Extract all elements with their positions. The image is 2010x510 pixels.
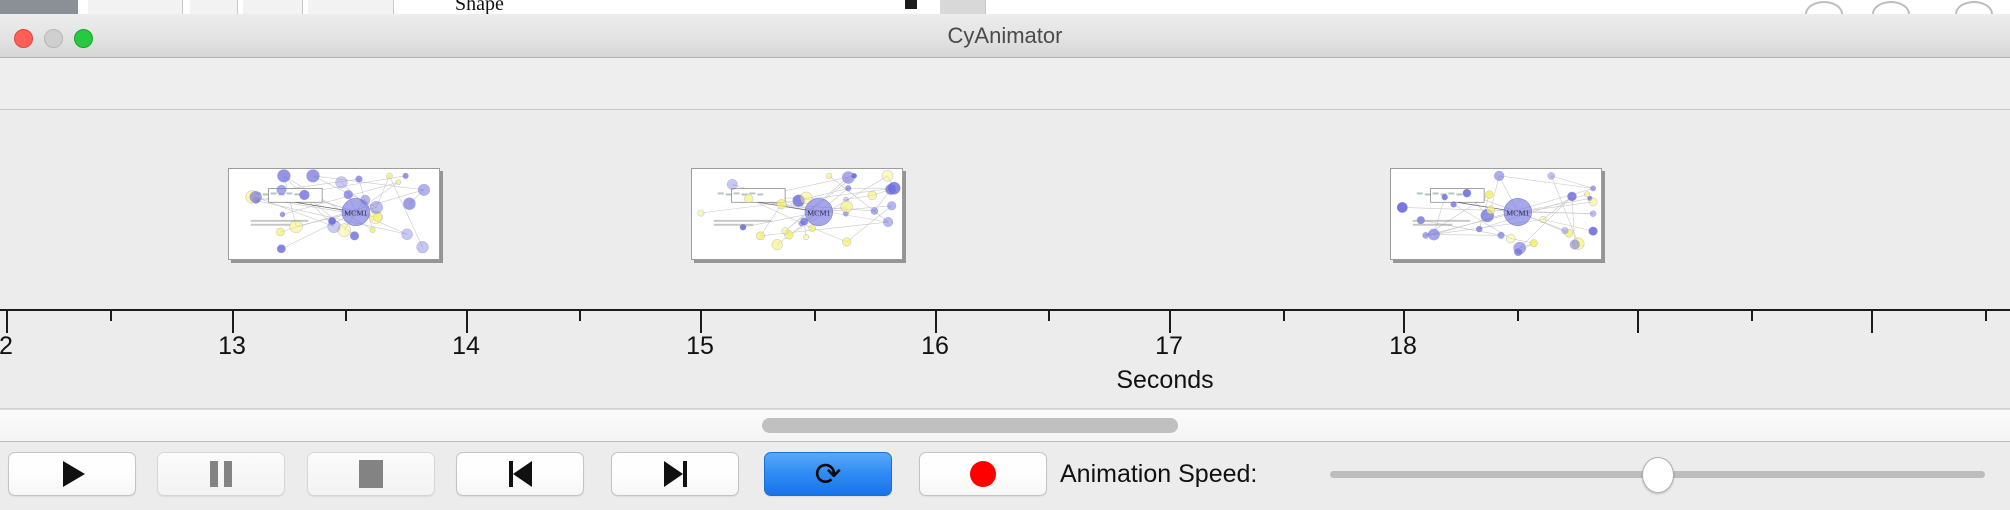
timeline-tick-major xyxy=(700,311,702,333)
stop-icon xyxy=(359,460,383,488)
loop-button[interactable]: ⟳ xyxy=(764,452,892,496)
timeline-tick-minor xyxy=(345,311,347,321)
timeline-tick-label: 13 xyxy=(218,332,246,361)
timeline-scrollbar[interactable] xyxy=(0,409,2010,442)
background-app-segment xyxy=(940,0,986,14)
pause-button[interactable] xyxy=(157,452,285,496)
skip-end-icon xyxy=(664,461,687,487)
close-button[interactable] xyxy=(14,29,33,48)
background-app-label: Shape xyxy=(455,0,504,14)
timeline-tick-label: 17 xyxy=(1155,332,1183,361)
background-app-marker xyxy=(905,0,917,9)
playback-toolbar: ⟳ Animation Speed: xyxy=(0,442,2010,510)
timeline-tick-label: 18 xyxy=(1389,332,1417,361)
stop-button[interactable] xyxy=(307,452,435,496)
background-app-arc xyxy=(1955,1,1993,14)
background-app-dark-block xyxy=(0,0,78,14)
timeline-tick-minor xyxy=(1985,311,1987,321)
timeline-tick-label: 15 xyxy=(686,332,714,361)
cyanimator-window: Shape CyAnimator + Clear All Frames xyxy=(0,0,2010,510)
timeline-tick-minor xyxy=(814,311,816,321)
play-button[interactable] xyxy=(8,452,136,496)
background-app-segment xyxy=(308,0,394,14)
timeline-tick-major xyxy=(232,311,234,333)
animation-speed-thumb[interactable] xyxy=(1642,457,1674,493)
record-icon xyxy=(970,461,996,487)
frames-toolbar: + Clear All Frames xyxy=(0,58,2010,110)
svg-text:MCM1: MCM1 xyxy=(1506,209,1529,218)
timeline-scrollbar-thumb[interactable] xyxy=(762,418,1178,433)
timeline-axis-title: Seconds xyxy=(860,366,1470,395)
timeline-tick-minor xyxy=(1283,311,1285,321)
timeline-tick-label: 14 xyxy=(452,332,480,361)
svg-text:MCM1: MCM1 xyxy=(344,209,367,218)
background-app-arc xyxy=(1805,1,1843,14)
background-app-segment xyxy=(243,0,303,14)
zoom-button[interactable] xyxy=(74,29,93,48)
skip-to-end-button[interactable] xyxy=(611,452,739,496)
record-button[interactable] xyxy=(919,452,1047,496)
timeline-frame-thumbnail[interactable]: MCM1 xyxy=(691,168,903,260)
play-icon xyxy=(63,461,85,487)
svg-text:MCM1: MCM1 xyxy=(807,209,830,218)
timeline-frame-thumbnail[interactable]: MCM1 xyxy=(1390,168,1602,260)
background-app-segment xyxy=(88,0,183,14)
timeline-tick-label: 2 xyxy=(0,332,13,361)
animation-speed-slider[interactable] xyxy=(1330,452,1985,496)
pause-icon xyxy=(210,461,232,487)
timeline-tick-major xyxy=(1403,311,1405,333)
timeline-axis-line xyxy=(0,309,2010,311)
timeline-tick-major xyxy=(1637,311,1639,333)
animation-speed-label: Animation Speed: xyxy=(1060,452,1257,496)
timeline-tick-major xyxy=(466,311,468,333)
traffic-lights xyxy=(14,29,93,48)
background-app-segment xyxy=(190,0,238,14)
skip-to-start-button[interactable] xyxy=(456,452,584,496)
window-titlebar[interactable]: CyAnimator xyxy=(0,14,2010,58)
timeline-tick-major xyxy=(935,311,937,333)
skip-start-icon xyxy=(509,461,532,487)
timeline-tick-label: 16 xyxy=(921,332,949,361)
timeline-tick-minor xyxy=(110,311,112,321)
timeline-tick-major xyxy=(1871,311,1873,333)
timeline-frame-thumbnail[interactable]: MCM1 xyxy=(228,168,440,260)
timeline-tick-minor xyxy=(1517,311,1519,321)
timeline-panel[interactable]: MCM1 MCM1 MCM1 21314151617 xyxy=(0,110,2010,409)
loop-icon: ⟳ xyxy=(815,458,842,490)
timeline-tick-major xyxy=(6,311,8,333)
window-title: CyAnimator xyxy=(0,14,2010,58)
timeline-tick-major xyxy=(1169,311,1171,333)
timeline-frames-area[interactable]: MCM1 MCM1 MCM1 xyxy=(0,110,2010,310)
timeline-tick-minor xyxy=(1751,311,1753,321)
timeline-tick-minor xyxy=(579,311,581,321)
minimize-button[interactable] xyxy=(44,29,63,48)
timeline-tick-minor xyxy=(1048,311,1050,321)
background-app-strip: Shape xyxy=(0,0,2010,14)
background-app-arc xyxy=(1872,1,1910,14)
